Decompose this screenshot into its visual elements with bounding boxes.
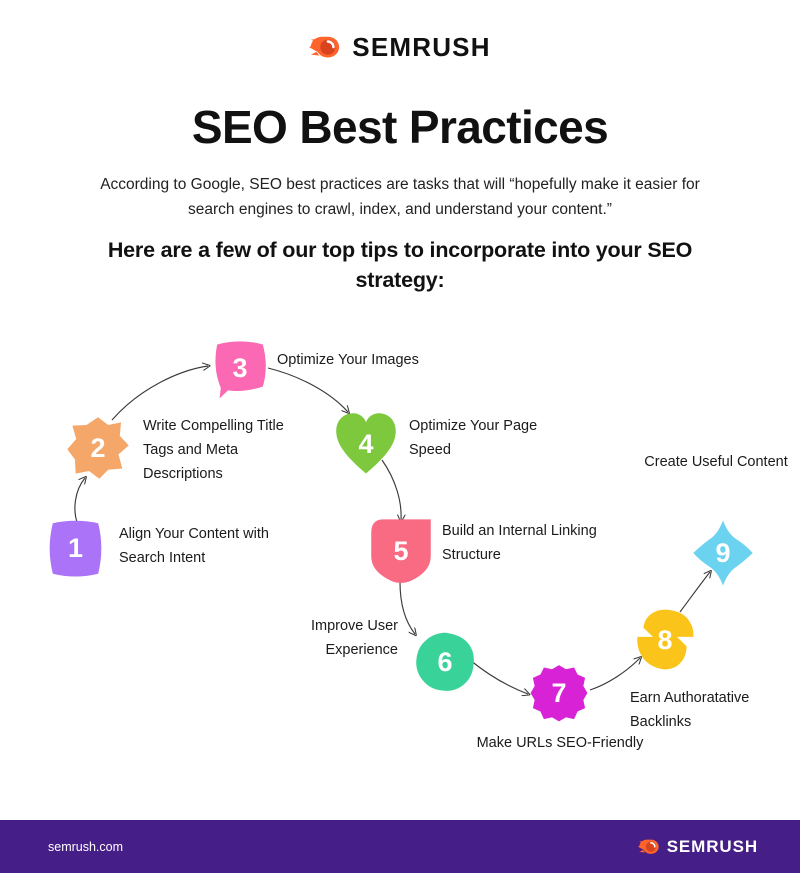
- footer-logo-text: SEMRUSH: [667, 837, 758, 857]
- steps-flow-diagram: 1 Align Your Content with Search Intent …: [0, 320, 800, 800]
- step-label-5: Build an Internal Linking Structure: [442, 520, 602, 568]
- header-logo: SEMRUSH: [0, 33, 800, 61]
- step-node-5[interactable]: 5: [370, 519, 432, 585]
- semrush-flame-icon: [309, 33, 341, 61]
- step-label-2: Write Compelling Title Tags and Meta Des…: [143, 415, 308, 486]
- step-number-4: 4: [358, 431, 373, 458]
- header-logo-text: SEMRUSH: [352, 34, 490, 60]
- step-number-8: 8: [657, 627, 672, 654]
- step-number-3: 3: [232, 355, 247, 382]
- step-label-9: Create Useful Content: [636, 451, 796, 475]
- step-label-6: Improve User Experience: [248, 615, 398, 663]
- step-number-7: 7: [551, 680, 566, 707]
- step-label-3: Optimize Your Images: [277, 349, 477, 373]
- page-tagline: Here are a few of our top tips to incorp…: [100, 236, 700, 295]
- step-node-9[interactable]: 9: [692, 520, 754, 588]
- footer-bar: semrush.com SEMRUSH: [0, 820, 800, 873]
- infographic-page: SEMRUSH SEO Best Practices According to …: [0, 0, 800, 873]
- page-title: SEO Best Practices: [0, 100, 800, 154]
- step-label-1: Align Your Content with Search Intent: [119, 523, 279, 571]
- step-label-4: Optimize Your Page Speed: [409, 415, 549, 463]
- footer-url[interactable]: semrush.com: [48, 840, 123, 854]
- step-node-3[interactable]: 3: [210, 338, 270, 400]
- step-number-9: 9: [715, 540, 730, 567]
- step-number-6: 6: [437, 649, 452, 676]
- step-node-8[interactable]: 8: [635, 610, 695, 672]
- step-label-8: Earn Authoratative Backlinks: [630, 687, 760, 735]
- step-node-2[interactable]: 2: [66, 417, 130, 481]
- step-number-2: 2: [90, 435, 105, 462]
- step-node-1[interactable]: 1: [44, 518, 107, 581]
- step-node-4[interactable]: 4: [335, 413, 397, 477]
- step-number-5: 5: [393, 538, 408, 565]
- footer-logo: SEMRUSH: [638, 837, 758, 857]
- page-subtitle: According to Google, SEO best practices …: [100, 172, 700, 222]
- step-node-7[interactable]: 7: [530, 665, 588, 723]
- step-number-1: 1: [68, 535, 83, 562]
- step-label-7: Make URLs SEO-Friendly: [470, 732, 650, 756]
- semrush-flame-icon: [638, 837, 660, 856]
- step-node-6[interactable]: 6: [415, 633, 475, 693]
